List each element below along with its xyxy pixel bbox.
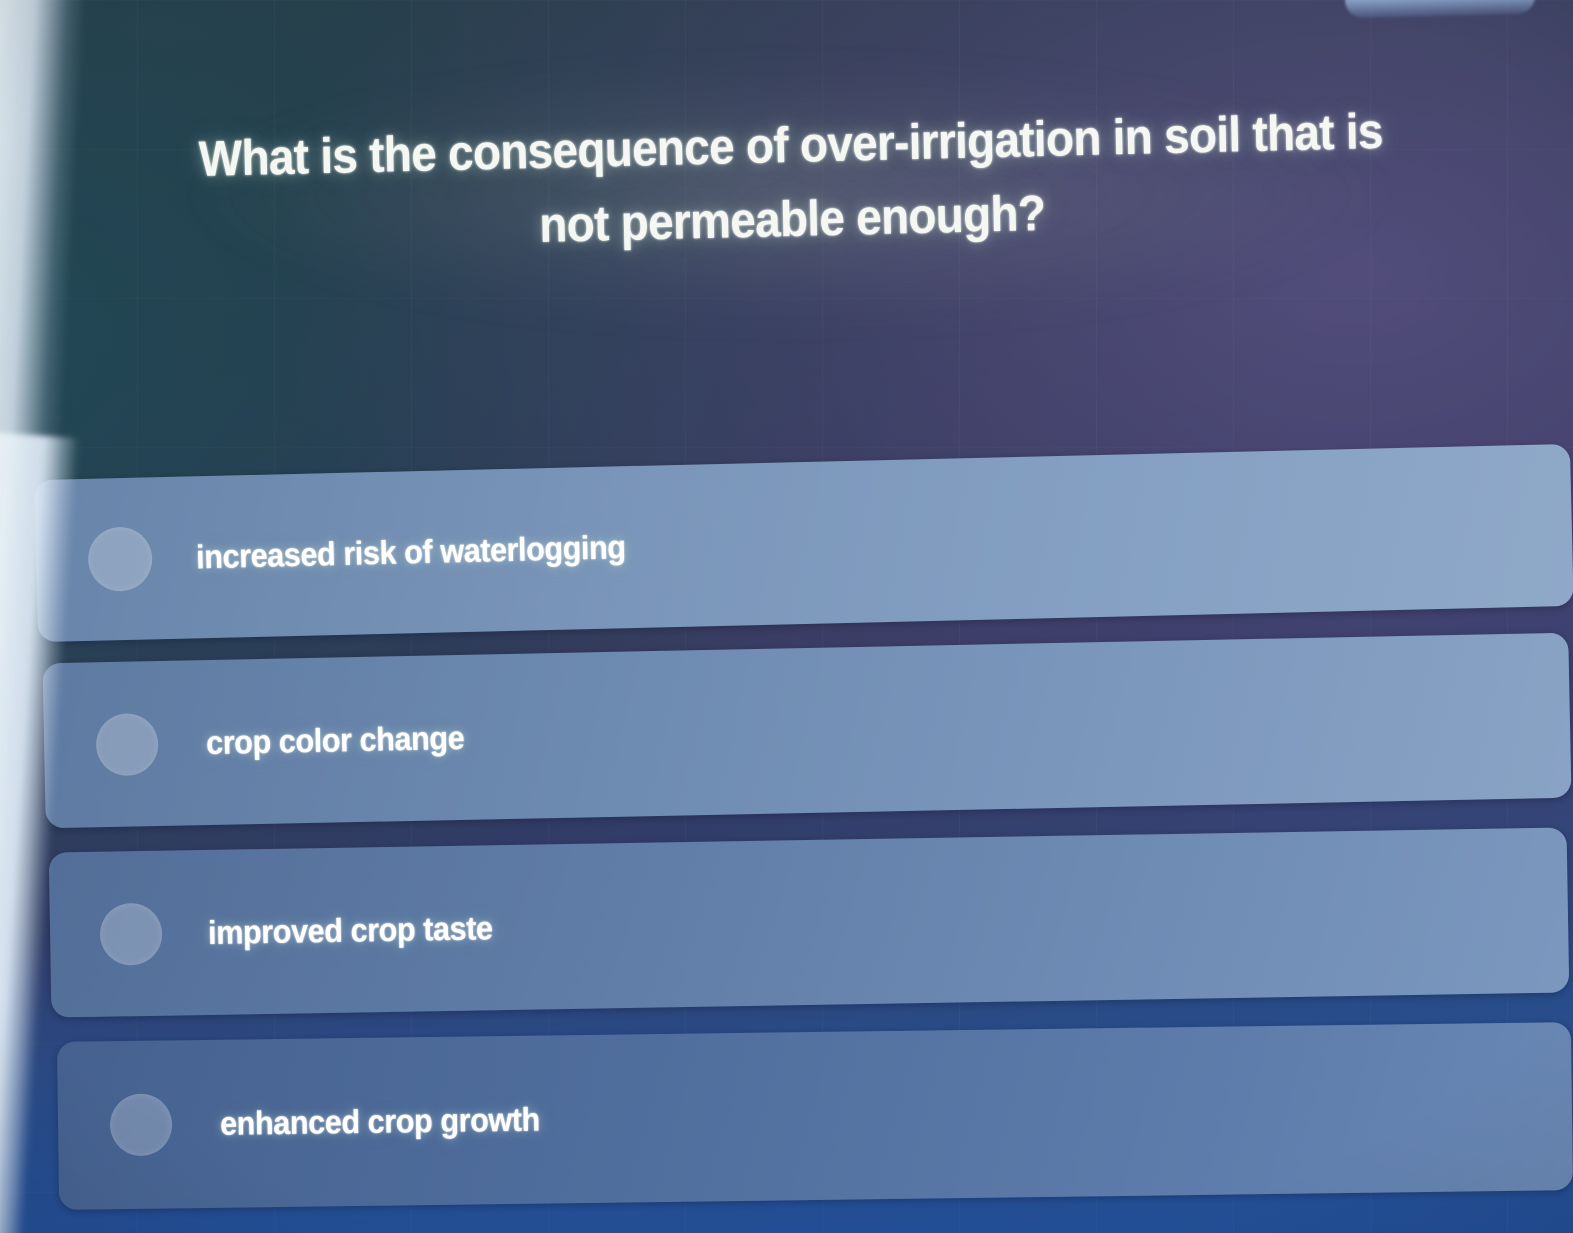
answer-option-1[interactable]: crop color change	[42, 633, 1571, 829]
answer-option-label: improved crop taste	[208, 909, 493, 952]
answer-option-0[interactable]: increased risk of waterlogging	[34, 444, 1573, 642]
radio-unselected-icon[interactable]	[110, 1093, 173, 1156]
radio-unselected-icon[interactable]	[100, 902, 163, 965]
answer-option-label: enhanced crop growth	[220, 1101, 540, 1143]
radio-unselected-icon[interactable]	[87, 526, 152, 591]
radio-unselected-icon[interactable]	[96, 713, 159, 776]
answer-options-list: increased risk of waterlogging crop colo…	[0, 0, 1573, 1233]
answer-option-3[interactable]: enhanced crop growth	[57, 1022, 1573, 1210]
answer-option-2[interactable]: improved crop taste	[49, 827, 1570, 1017]
quiz-screen-photo: What is the consequence of over-irrigati…	[0, 0, 1573, 1233]
answer-option-label: increased risk of waterlogging	[196, 528, 626, 576]
answer-option-label: crop color change	[206, 718, 465, 761]
